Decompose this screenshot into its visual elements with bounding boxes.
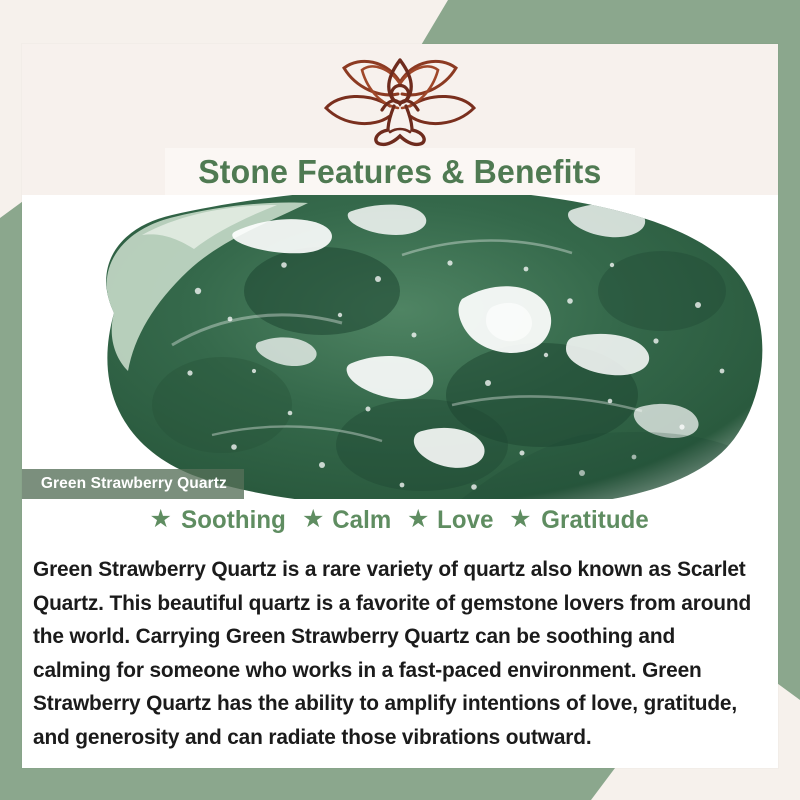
keyword-list: ★ Soothing ★ Calm ★ Love ★ Gratitude (22, 506, 778, 535)
star-icon: ★ (302, 507, 324, 532)
decor-bottom-band (0, 768, 615, 800)
description-paragraph: Green Strawberry Quartz is a rare variet… (33, 553, 756, 754)
keyword-label: Love (438, 506, 494, 535)
page-title: Stone Features & Benefits (198, 153, 601, 191)
stone-photo-graphic (22, 195, 778, 499)
photo-caption-label: Green Strawberry Quartz (41, 475, 227, 493)
star-icon: ★ (149, 507, 171, 532)
keyword-item: ★ Gratitude (509, 506, 650, 535)
keyword-item: ★ Love (407, 506, 495, 535)
stone-photo: Green Strawberry Quartz (22, 195, 778, 499)
decor-top-band (420, 0, 800, 47)
poster-root: BUDDHA STONES Stone Features & Benefits (0, 0, 800, 800)
title-banner: Stone Features & Benefits (165, 148, 635, 195)
star-icon: ★ (407, 507, 429, 532)
keyword-item: ★ Soothing (149, 506, 288, 535)
keyword-label: Soothing (181, 506, 286, 535)
lotus-meditation-icon (316, 54, 484, 150)
star-icon: ★ (509, 507, 531, 532)
keyword-label: Calm (333, 506, 392, 535)
keyword-label: Gratitude (541, 506, 649, 535)
content-card: BUDDHA STONES Stone Features & Benefits (22, 44, 778, 768)
photo-caption: Green Strawberry Quartz (22, 469, 244, 499)
keyword-item: ★ Calm (302, 506, 393, 535)
